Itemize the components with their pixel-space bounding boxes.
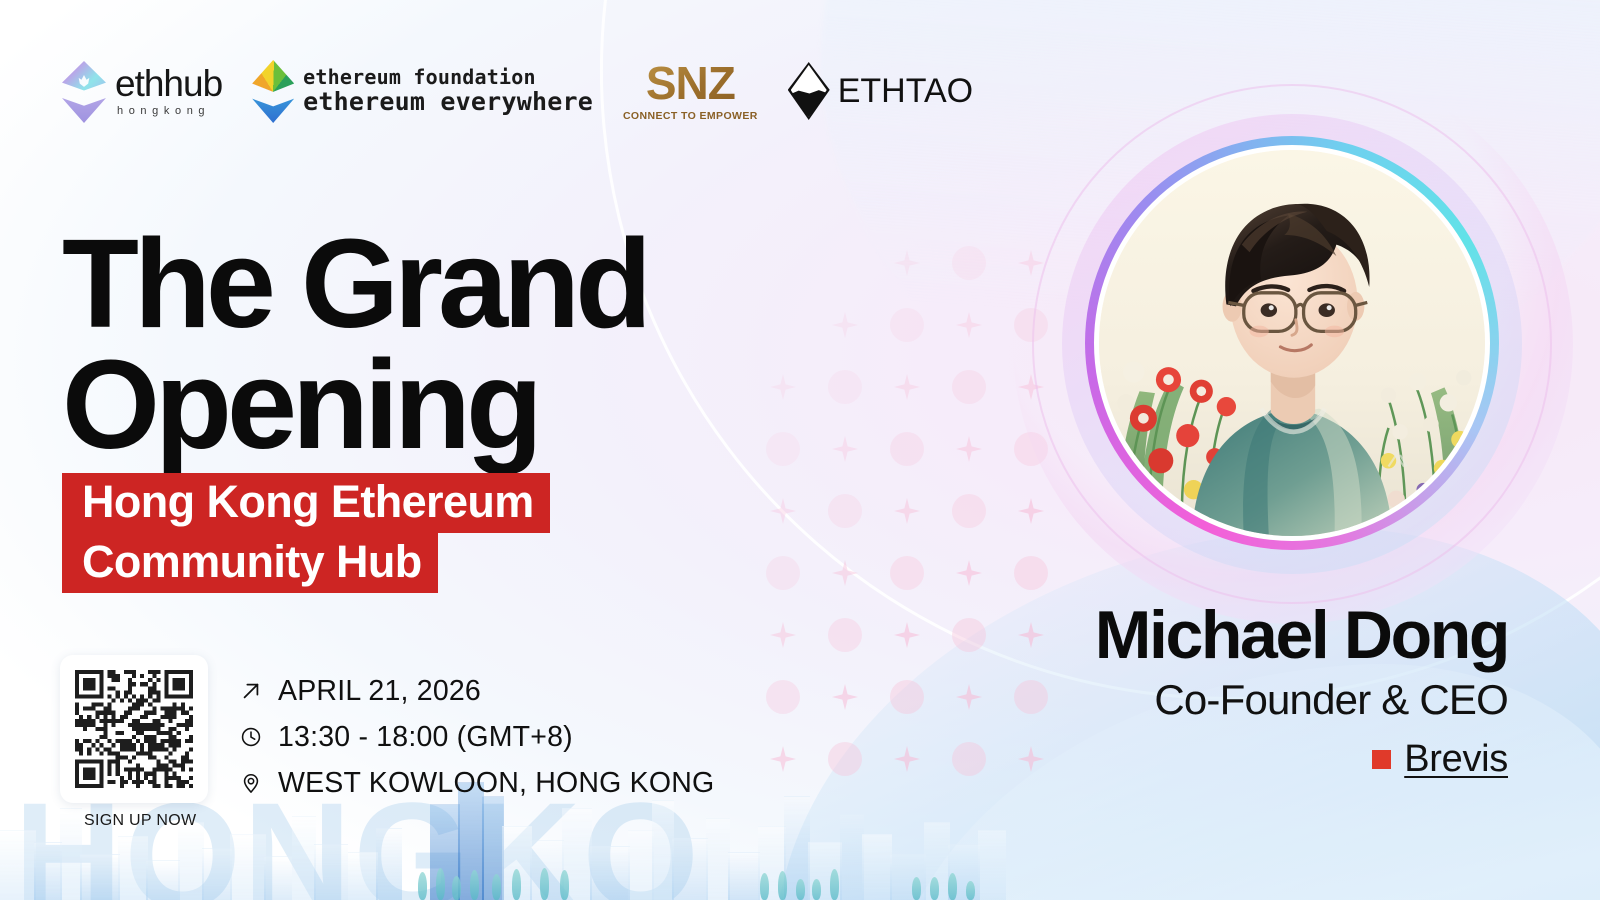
sponsor-logo-ethtao[interactable]: ETHTAO <box>788 62 973 120</box>
ethereum-diamond-gradient-icon <box>62 61 106 121</box>
sponsor-logo-ethhub[interactable]: ethhub hongkong <box>62 61 222 121</box>
ef-line1: ethereum foundation <box>303 66 593 88</box>
brevis-square-icon <box>1372 750 1391 769</box>
page-title: The Grand Opening <box>62 224 647 466</box>
event-location-row: WEST KOWLOON, HONG KONG <box>240 760 714 806</box>
sponsor-logo-ethereum-foundation[interactable]: ethereum foundation ethereum everywhere <box>252 60 593 122</box>
subtitle-line-2: Community Hub <box>62 533 438 593</box>
event-time: 13:30 - 18:00 (GMT+8) <box>278 721 573 754</box>
headline-line-1: The Grand <box>62 213 647 354</box>
speaker-name: Michael Dong <box>1095 600 1508 671</box>
snz-tagline: CONNECT TO EMPOWER <box>623 111 758 122</box>
map-pin-icon <box>240 772 262 794</box>
portrait-gradient-ring <box>1085 136 1499 550</box>
headline-line-2: Opening <box>62 345 647 466</box>
signup-qr-card[interactable] <box>60 655 208 803</box>
ef-line2: ethereum everywhere <box>303 88 593 116</box>
ethhub-tagline: hongkong <box>117 106 222 117</box>
event-time-row: 13:30 - 18:00 (GMT+8) <box>240 714 714 760</box>
ethtao-wordmark: ETHTAO <box>838 72 973 111</box>
event-date-row: APRIL 21, 2026 <box>240 668 714 714</box>
speaker-avatar <box>1094 145 1490 541</box>
arrow-up-right-icon <box>240 680 262 702</box>
clock-icon <box>240 726 262 748</box>
ethhub-name: ethhub <box>115 65 222 102</box>
speaker-role: Co-Founder & CEO <box>1095 677 1508 723</box>
speaker-organization[interactable]: Brevis <box>1095 738 1508 781</box>
event-details: APRIL 21, 2026 13:30 - 18:00 (GMT+8) WES… <box>240 668 714 806</box>
event-date: APRIL 21, 2026 <box>278 675 481 708</box>
ethereum-diamond-rainbow-icon <box>252 60 294 122</box>
subtitle-line-1: Hong Kong Ethereum <box>62 473 550 533</box>
sponsor-logo-bar: ethhub hongkong ethereum foundation ethe… <box>62 58 973 124</box>
speaker-org-name: Brevis <box>1404 738 1508 781</box>
snz-wordmark-icon: SNZ <box>623 60 758 106</box>
ethtao-diamond-icon <box>788 62 830 120</box>
speaker-portrait-illustration <box>1099 150 1485 536</box>
sponsor-logo-snz[interactable]: SNZ CONNECT TO EMPOWER <box>623 60 758 122</box>
subtitle-band: Hong Kong Ethereum Community Hub <box>62 473 550 593</box>
event-location: WEST KOWLOON, HONG KONG <box>278 767 714 800</box>
qr-code-icon <box>75 670 193 788</box>
signup-label: SIGN UP NOW <box>84 812 196 830</box>
speaker-info: Michael Dong Co-Founder & CEO Brevis <box>1095 600 1508 781</box>
event-poster: HONGKO ethhub hongkong ethereum foundati… <box>0 0 1600 900</box>
